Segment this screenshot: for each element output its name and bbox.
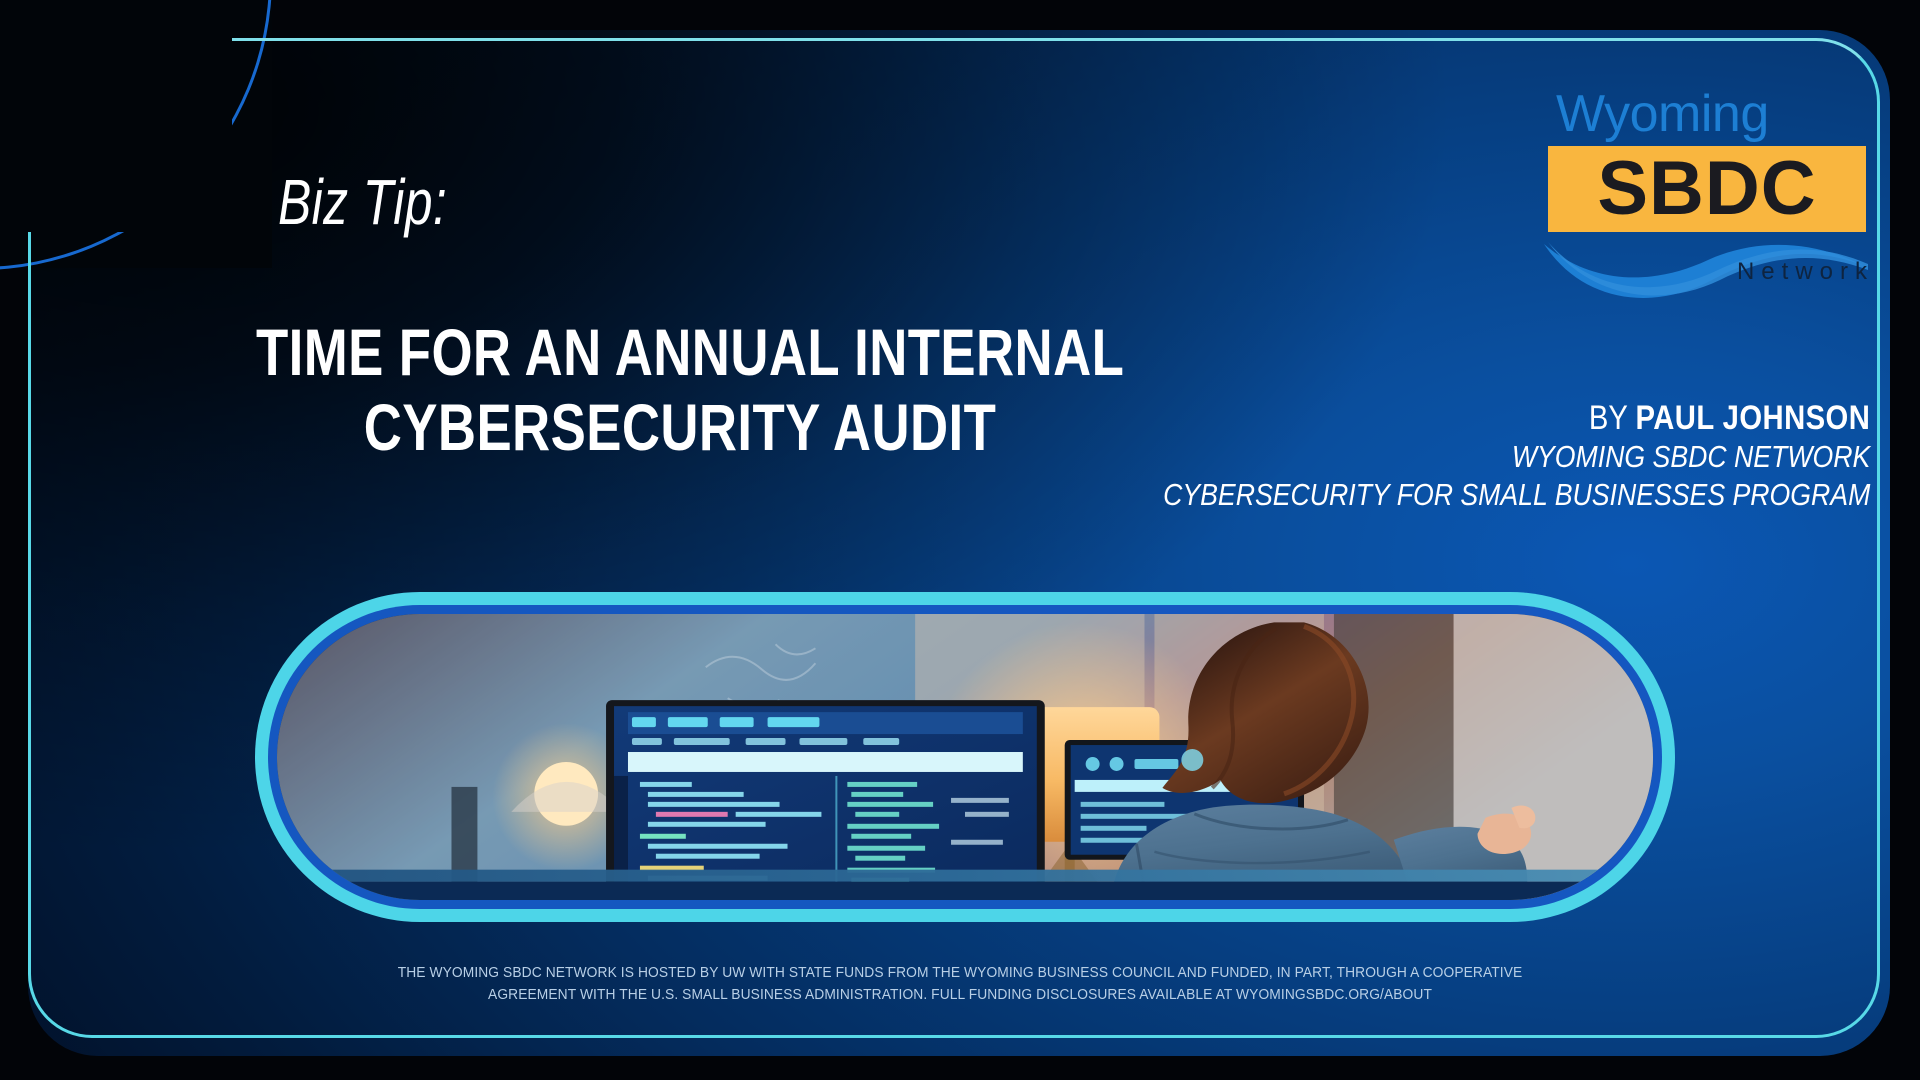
byline: BY PAUL JOHNSON WYOMING SBDC NETWORK CYB… bbox=[1048, 398, 1870, 514]
kicker-biz-tip: Biz Tip: bbox=[278, 165, 447, 239]
hero-photo bbox=[277, 614, 1653, 900]
photo-frame-inner bbox=[268, 605, 1662, 909]
slide-canvas: Biz Tip: TIME FOR AN ANNUAL INTERNAL CYB… bbox=[0, 0, 1920, 1080]
footer-line-2: AGREEMENT WITH THE U.S. SMALL BUSINESS A… bbox=[77, 984, 1843, 1006]
byline-organization: WYOMING SBDC NETWORK bbox=[1163, 438, 1870, 476]
footer-disclaimer: THE WYOMING SBDC NETWORK IS HOSTED BY UW… bbox=[0, 962, 1920, 1006]
cyan-frame-corner-mask bbox=[0, 0, 232, 232]
wyoming-sbdc-network-logo: Wyoming SBDC Network bbox=[1548, 88, 1878, 232]
byline-program: CYBERSECURITY FOR SMALL BUSINESSES PROGR… bbox=[1163, 476, 1870, 514]
logo-word-network: Network bbox=[1737, 258, 1874, 286]
headline-line-2: CYBERSECURITY AUDIT bbox=[256, 390, 1104, 465]
hero-photo-illustration bbox=[277, 614, 1653, 900]
byline-prefix: BY bbox=[1589, 399, 1636, 437]
byline-author-name: PAUL JOHNSON bbox=[1635, 399, 1870, 437]
photo-frame-outer bbox=[255, 592, 1675, 922]
footer-line-1: THE WYOMING SBDC NETWORK IS HOSTED BY UW… bbox=[77, 962, 1843, 984]
logo-word-wyoming: Wyoming bbox=[1556, 88, 1878, 140]
byline-author-row: BY PAUL JOHNSON bbox=[1163, 398, 1870, 438]
headline-line-1: TIME FOR AN ANNUAL INTERNAL bbox=[256, 315, 1104, 390]
logo-acronym-text: SBDC bbox=[1597, 151, 1816, 227]
logo-acronym-box: SBDC bbox=[1548, 146, 1866, 232]
